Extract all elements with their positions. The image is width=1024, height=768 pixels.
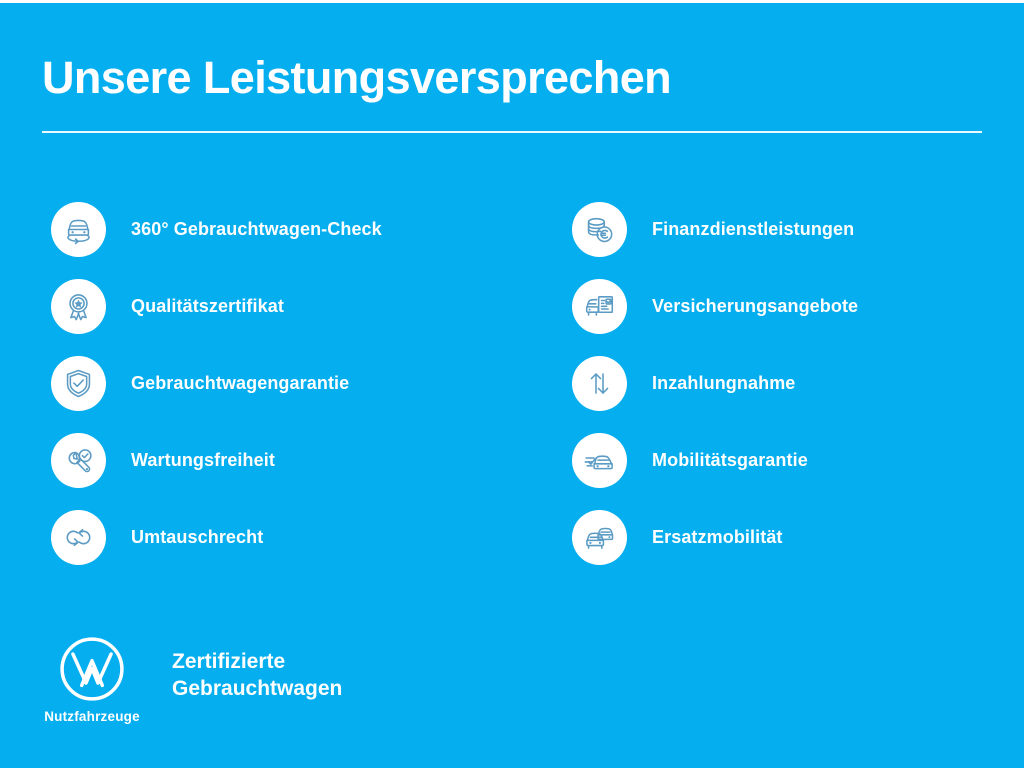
- car-motion-icon: [572, 433, 627, 488]
- shield-check-icon: [51, 356, 106, 411]
- coins-euro-icon: [572, 202, 627, 257]
- volkswagen-logo-icon: [59, 636, 125, 702]
- list-item-label: Mobilitätsgarantie: [652, 450, 808, 471]
- list-item[interactable]: Wartungsfreiheit: [51, 433, 382, 488]
- list-item[interactable]: Versicherungsangebote: [572, 279, 858, 334]
- brand-subtitle: Nutzfahrzeuge: [44, 709, 140, 724]
- list-item[interactable]: Gebrauchtwagengarantie: [51, 356, 382, 411]
- list-item[interactable]: Qualitätszertifikat: [51, 279, 382, 334]
- car-360-check-icon: [51, 202, 106, 257]
- list-item-label: Wartungsfreiheit: [131, 450, 275, 471]
- top-edge-strip: [0, 0, 1024, 3]
- footer-claim-line1: Zertifizierte: [172, 649, 342, 676]
- brand-block: Nutzfahrzeuge: [36, 636, 148, 724]
- two-cars-icon: [572, 510, 627, 565]
- footer-claim-line2: Gebrauchtwagen: [172, 676, 342, 703]
- list-item[interactable]: Umtauschrecht: [51, 510, 382, 565]
- title-divider: [42, 131, 982, 133]
- exchange-arrows-icon: [51, 510, 106, 565]
- benefits-column-left: 360° Gebrauchtwagen-Check Qualitätszerti…: [51, 202, 382, 565]
- footer: Nutzfahrzeuge Zertifizierte Gebrauchtwag…: [36, 636, 342, 724]
- arrows-up-down-icon: [572, 356, 627, 411]
- list-item-label: Umtauschrecht: [131, 527, 263, 548]
- car-document-check-icon: [572, 279, 627, 334]
- wrench-check-icon: [51, 433, 106, 488]
- list-item-label: Ersatzmobilität: [652, 527, 783, 548]
- list-item-label: 360° Gebrauchtwagen-Check: [131, 219, 382, 240]
- list-item-label: Finanzdienstleistungen: [652, 219, 854, 240]
- page-title: Unsere Leistungsversprechen: [42, 54, 671, 101]
- list-item-label: Qualitätszertifikat: [131, 296, 284, 317]
- list-item[interactable]: Mobilitätsgarantie: [572, 433, 858, 488]
- list-item[interactable]: Ersatzmobilität: [572, 510, 858, 565]
- list-item[interactable]: Finanzdienstleistungen: [572, 202, 858, 257]
- list-item[interactable]: Inzahlungnahme: [572, 356, 858, 411]
- award-rosette-icon: [51, 279, 106, 334]
- benefits-column-right: Finanzdienstleistungen Versicherungsange…: [572, 202, 858, 565]
- list-item-label: Inzahlungnahme: [652, 373, 795, 394]
- footer-claim: Zertifizierte Gebrauchtwagen: [172, 649, 342, 702]
- list-item-label: Gebrauchtwagengarantie: [131, 373, 349, 394]
- list-item-label: Versicherungsangebote: [652, 296, 858, 317]
- list-item[interactable]: 360° Gebrauchtwagen-Check: [51, 202, 382, 257]
- slide-root: Unsere Leistungsversprechen 360° Gebrauc…: [0, 0, 1024, 768]
